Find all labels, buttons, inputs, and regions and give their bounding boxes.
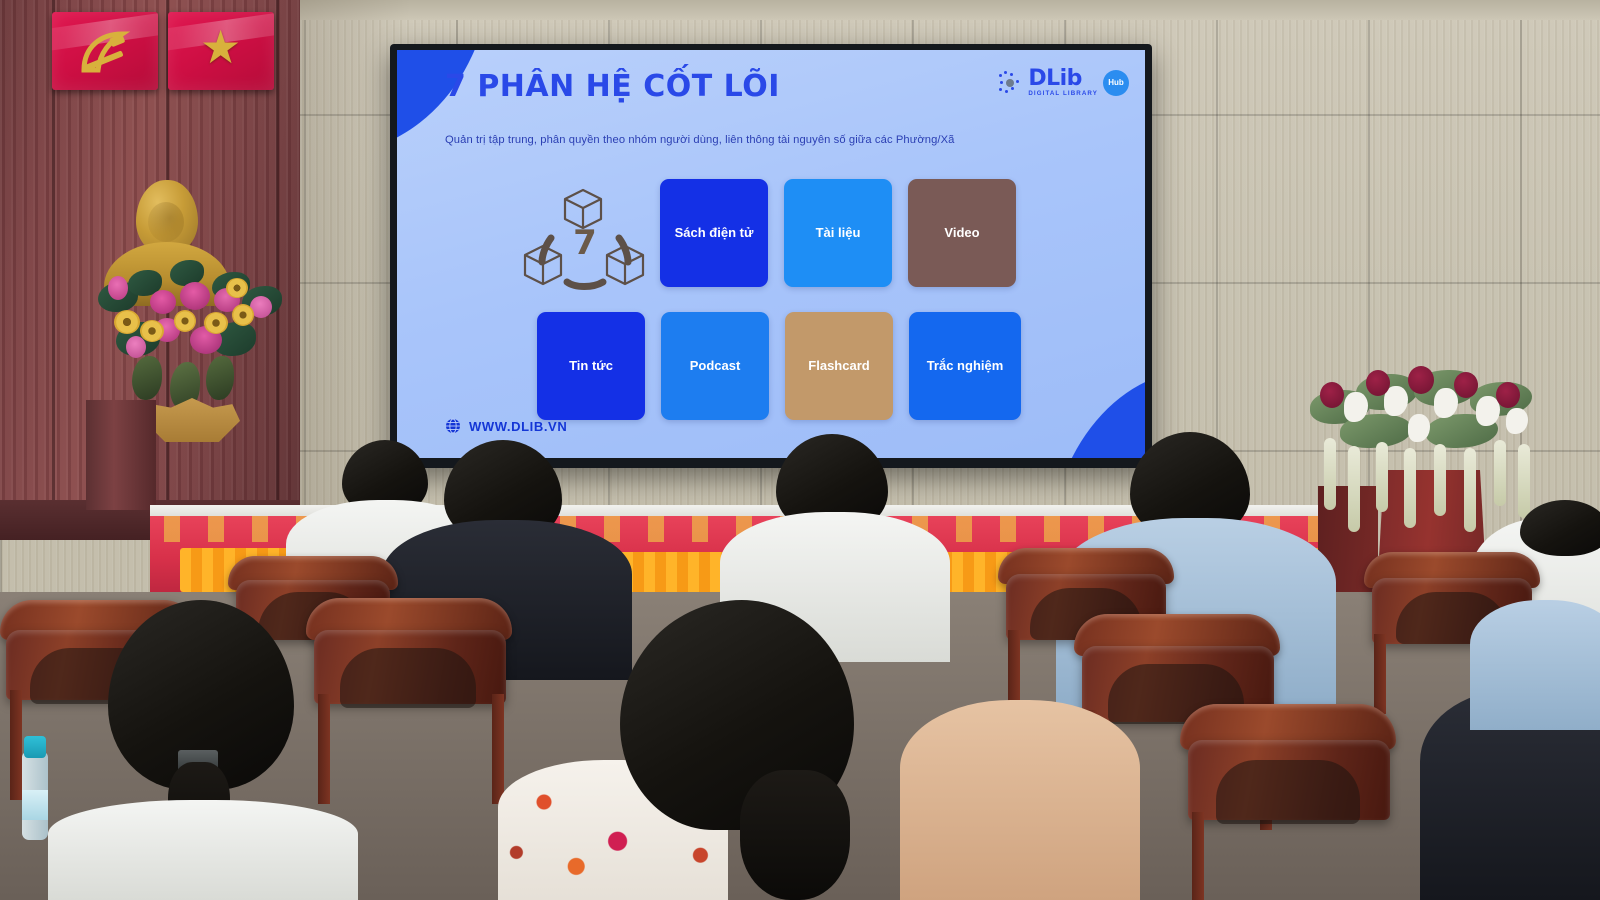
flower-arrangement (92, 252, 292, 412)
tile-label: Tin tức (569, 358, 613, 374)
tile-label: Trắc nghiệm (927, 358, 1004, 374)
logo-name: DLib (1028, 68, 1098, 90)
bust-pedestal-column (86, 400, 156, 510)
seven-cubes-icon: 7 (521, 182, 649, 296)
tile-tai-lieu[interactable]: Tài liệu (784, 179, 892, 287)
tile-label: Tài liệu (816, 225, 861, 241)
logo-tagline: DIGITAL LIBRARY (1028, 91, 1098, 97)
slide-corner-decoration-bottom-right (1047, 370, 1145, 458)
tile-label: Video (944, 225, 979, 241)
globe-icon (445, 418, 461, 434)
conference-room-scene: ★ (0, 0, 1600, 900)
tile-podcast[interactable]: Podcast (661, 312, 769, 420)
tile-video[interactable]: Video (908, 179, 1016, 287)
logo-dots-icon (999, 71, 1023, 95)
hammer-and-sickle-icon (76, 28, 136, 76)
ho-chi-minh-bust (92, 180, 242, 430)
presentation-display[interactable]: 7 PHÂN HỆ CỐT LÕI Quản trị tập trung, ph… (390, 44, 1152, 468)
slide-title: 7 PHÂN HỆ CỐT LÕI (445, 69, 780, 104)
tile-label: Podcast (690, 358, 741, 374)
logo-text-block: DLib DIGITAL LIBRARY (1028, 68, 1098, 97)
slide-footer: WWW.DLIB.VN (445, 418, 567, 434)
bottle-cap (24, 736, 46, 758)
tile-sach-dien-tu[interactable]: Sách điện tử (660, 179, 768, 287)
podium-flower-arrangement (1300, 352, 1550, 492)
tile-trac-nghiem[interactable]: Trắc nghiệm (909, 312, 1021, 420)
yellow-star-icon: ★ (200, 24, 241, 70)
slide-canvas: 7 PHÂN HỆ CỐT LÕI Quản trị tập trung, ph… (397, 50, 1145, 458)
tile-tin-tuc[interactable]: Tin tức (537, 312, 645, 420)
tile-flashcard[interactable]: Flashcard (785, 312, 893, 420)
footer-url[interactable]: WWW.DLIB.VN (469, 419, 567, 434)
dlib-logo: DLib DIGITAL LIBRARY Hub (999, 68, 1129, 97)
bust-face-shading (148, 202, 184, 242)
communist-party-flag (52, 12, 158, 90)
tile-label: Flashcard (808, 358, 869, 374)
subsystem-tiles-row-1: Sách điện tử Tài liệu Video (660, 179, 1016, 287)
subsystem-tiles-row-2: Tin tức Podcast Flashcard Trắc nghiệm (537, 312, 1021, 420)
bottle-label (22, 790, 48, 820)
tile-label: Sách điện tử (675, 225, 754, 241)
svg-text:7: 7 (573, 223, 597, 263)
vietnam-national-flag: ★ (168, 12, 274, 90)
logo-hub-badge: Hub (1103, 70, 1129, 96)
slide-subtitle: Quản trị tập trung, phân quyền theo nhóm… (445, 134, 1045, 146)
